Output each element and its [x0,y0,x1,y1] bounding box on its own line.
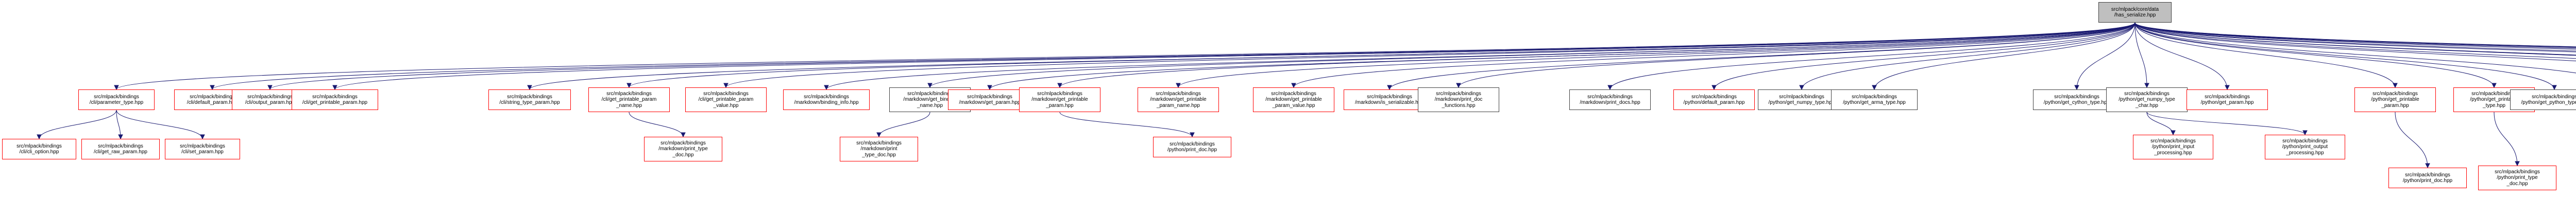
edge-root-to-n2 [212,23,2135,89]
graph-node-n5[interactable]: src/mlpack/bindings /cli/string_type_par… [488,89,571,110]
edge-n24-to-m10-arrow [2515,161,2519,166]
edge-root-to-n14 [1389,23,2135,89]
edge-root-to-n8-arrow [824,85,828,89]
edge-root-to-n16-arrow [1608,85,1612,89]
edge-n21-to-m7-arrow [2171,131,2175,135]
graph-node-n22[interactable]: src/mlpack/bindings /python/get_param.hp… [2187,89,2268,110]
edge-root-to-n3 [270,23,2135,89]
edge-root-to-n36 [2135,23,2576,87]
edge-n9-to-m5-arrow [877,133,881,137]
graph-node-m10[interactable]: src/mlpack/bindings /python/print_type _… [2478,166,2556,190]
graph-node-m9[interactable]: src/mlpack/bindings /python/print_doc.hp… [2388,168,2467,188]
edge-root-to-n9 [930,23,2135,87]
edge-root-to-n27 [2135,23,2576,89]
edge-root-to-n3-arrow [268,85,272,89]
edge-root-to-n13-arrow [1292,83,1296,87]
graph-node-n1[interactable]: src/mlpack/bindings /cli/parameter_type.… [78,89,155,110]
graph-node-n11[interactable]: src/mlpack/bindings /markdown/get_printa… [1019,87,1100,112]
edge-n1-to-m1 [39,110,116,139]
graph-node-m5[interactable]: src/mlpack/bindings /markdown/print _typ… [840,137,918,161]
edge-n23-to-m9 [2395,112,2428,168]
graph-node-n6[interactable]: src/mlpack/bindings /cli/get_printable_p… [588,87,670,112]
edge-root-to-n10 [990,23,2135,89]
edge-root-to-n12-arrow [1176,83,1180,87]
edge-root-to-n20-arrow [2075,85,2079,89]
include-dependency-graph: src/mlpack/core/data /has_serialize.hpps… [0,0,2576,218]
edge-root-to-n20 [2077,23,2135,89]
graph-node-n17[interactable]: src/mlpack/bindings /python/default_para… [1673,89,1755,110]
edge-root-to-n6 [629,23,2135,87]
edge-n1-to-m2 [116,110,121,139]
edge-root-to-n6-arrow [627,83,631,87]
graph-node-n12[interactable]: src/mlpack/bindings /markdown/get_printa… [1138,87,1219,112]
edge-n24-to-m10 [2494,112,2517,166]
edge-root-to-n23 [2135,23,2395,87]
edge-root-to-n17 [1714,23,2135,89]
graph-node-m4[interactable]: src/mlpack/bindings /markdown/print_type… [644,137,722,161]
graph-node-m2[interactable]: src/mlpack/bindings /cli/get_raw_param.h… [81,139,160,159]
edge-root-to-n29 [2135,23,2576,87]
edge-root-to-n14-arrow [1387,85,1392,89]
edge-root-to-n1-arrow [114,85,118,89]
graph-node-n13[interactable]: src/mlpack/bindings /markdown/get_printa… [1253,87,1334,112]
edge-root-to-n22-arrow [2225,85,2229,89]
edge-root-to-n15 [1459,23,2135,87]
edge-root-to-n32 [2135,23,2576,89]
edge-root-to-n11-arrow [1058,83,1062,87]
edge-root-to-n21 [2135,23,2147,87]
edge-n21-to-m8-arrow [2303,131,2307,135]
graph-node-m8[interactable]: src/mlpack/bindings /python/print_output… [2265,135,2345,159]
graph-node-n4[interactable]: src/mlpack/bindings /cli/get_printable_p… [292,89,378,110]
edge-root-to-n31 [2135,23,2576,87]
graph-node-n15[interactable]: src/mlpack/bindings /markdown/print_doc … [1418,87,1499,112]
edge-root-to-n15-arrow [1456,83,1461,87]
edge-root-to-n19 [1874,23,2135,89]
graph-node-n21[interactable]: src/mlpack/bindings /python/get_numpy_ty… [2106,87,2188,112]
edge-n9-to-m5 [879,112,930,137]
edge-root-to-n18 [1802,23,2135,89]
edge-root-to-n21-arrow [2145,83,2149,87]
edge-n21-to-m7 [2147,112,2173,135]
edge-root-to-n8 [826,23,2135,89]
edge-n11-to-m6-arrow [1190,133,1194,137]
graph-node-n19[interactable]: src/mlpack/bindings /python/get_arma_typ… [1831,89,1918,110]
edge-root-to-n5 [530,23,2135,89]
graph-node-m1[interactable]: src/mlpack/bindings /cli/cli_option.hpp [2,139,76,159]
edge-n1-to-m3-arrow [200,135,205,139]
edge-root-to-n25-arrow [2552,85,2556,89]
graph-node-m7[interactable]: src/mlpack/bindings /python/print_input … [2133,135,2213,159]
edge-root-to-n4-arrow [333,85,337,89]
edge-root-to-n16 [1610,23,2135,89]
edge-n6-to-m4-arrow [681,133,685,137]
edge-n1-to-m3 [116,110,202,139]
graph-node-n16[interactable]: src/mlpack/bindings /markdown/print_docs… [1569,89,1651,110]
edge-root-to-n30 [2135,23,2576,89]
edge-root-to-n12 [1178,23,2135,87]
edge-root-to-n9-arrow [928,83,932,87]
edge-root-to-n10-arrow [988,85,992,89]
edge-root-to-n33 [2135,23,2576,87]
edge-root-to-n24 [2135,23,2494,87]
edge-root-to-n35 [2135,23,2576,87]
graph-node-n23[interactable]: src/mlpack/bindings /python/get_printabl… [2354,87,2436,112]
edge-root-to-n23-arrow [2393,83,2397,87]
edge-root-to-n24-arrow [2492,83,2496,87]
edge-root-to-n19-arrow [1872,85,1876,89]
edge-root-to-n22 [2135,23,2227,89]
graph-node-n25[interactable]: src/mlpack/bindings /python/get_python_t… [2510,89,2576,110]
edge-root-to-n7-arrow [724,83,728,87]
edge-n1-to-m2-arrow [118,135,123,139]
edge-root-to-n7 [726,23,2135,87]
edge-root-to-n5-arrow [528,85,532,89]
edge-root-to-n17-arrow [1712,85,1716,89]
edge-root-to-n18-arrow [1800,85,1804,89]
graph-node-n7[interactable]: src/mlpack/bindings /cli/get_printable_p… [685,87,767,112]
edge-n23-to-m9-arrow [2426,164,2430,168]
edge-root-to-n37 [2135,23,2576,89]
edge-root-to-n28 [2135,23,2576,89]
edge-root-to-n11 [1060,23,2135,87]
edge-root-to-n25 [2135,23,2554,89]
edge-root-to-n26 [2135,23,2576,89]
edge-root-to-n4 [335,23,2135,89]
edge-root-to-n13 [1294,23,2135,87]
edge-n11-to-m6 [1060,112,1192,137]
graph-node-n8[interactable]: src/mlpack/bindings /markdown/binding_in… [783,89,870,110]
edge-root-to-n34 [2135,23,2576,87]
edge-n6-to-m4 [629,112,683,137]
graph-node-m3[interactable]: src/mlpack/bindings /cli/set_param.hpp [165,139,240,159]
edge-n21-to-m8 [2147,112,2305,135]
graph-node-root-root[interactable]: src/mlpack/core/data /has_serialize.hpp [2098,2,2172,23]
edge-n1-to-m1-arrow [37,135,41,139]
edge-root-to-n2-arrow [210,85,214,89]
graph-node-m6[interactable]: src/mlpack/bindings /python/print_doc.hp… [1153,137,1231,157]
edge-root-to-n1 [116,23,2135,89]
